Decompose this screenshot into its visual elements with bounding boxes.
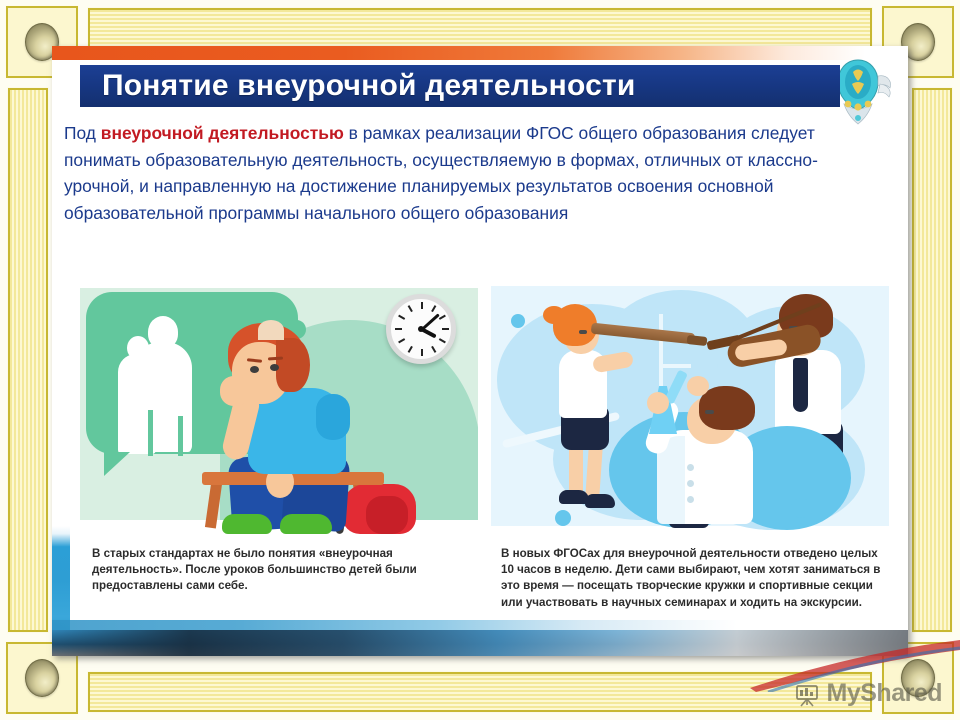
body-lead: Под [64, 123, 101, 143]
illustration-panels: В старых стандартах не было понятия «вне… [80, 280, 890, 630]
wall-clock-icon [386, 294, 456, 364]
decorative-screw-icon [25, 659, 59, 697]
panel-new-standards: В новых ФГОСах для внеурочной деятельнос… [491, 280, 889, 630]
myshared-logo-icon [795, 681, 821, 707]
presentation-slide: Понятие внеурочной деятельности Под внеу… [52, 46, 908, 656]
panel-caption-old-standards: В старых стандартах не было понятия «вне… [80, 534, 478, 595]
frame-ribbon-left [8, 88, 48, 632]
watermark-myshared: MyShared [795, 679, 942, 708]
slide-bottom-accent-band [52, 630, 908, 656]
watermark-label: MyShared [827, 679, 942, 708]
frame-ribbon-bottom [88, 672, 872, 712]
slide-page: Понятие внеурочной деятельности Под внеу… [0, 0, 960, 720]
illustration-activities [491, 280, 889, 534]
frame-ribbon-top [88, 8, 872, 48]
panel-caption-new-standards: В новых ФГОСах для внеурочной деятельнос… [491, 534, 889, 611]
slide-top-accent-band [52, 46, 908, 60]
slide-bottom-accent-fade [52, 620, 908, 630]
frame-ribbon-right [912, 88, 952, 632]
panel-old-standards: В старых стандартах не было понятия «вне… [80, 280, 478, 630]
page-title: Понятие внеурочной деятельности [102, 69, 636, 103]
slide-body-paragraph: Под внеурочной деятельностью в рамках ре… [64, 120, 854, 226]
slide-title-bar: Понятие внеурочной деятельности [80, 65, 840, 107]
illustration-sad-boy [80, 280, 478, 534]
body-highlight: внеурочной деятельностью [101, 123, 344, 143]
